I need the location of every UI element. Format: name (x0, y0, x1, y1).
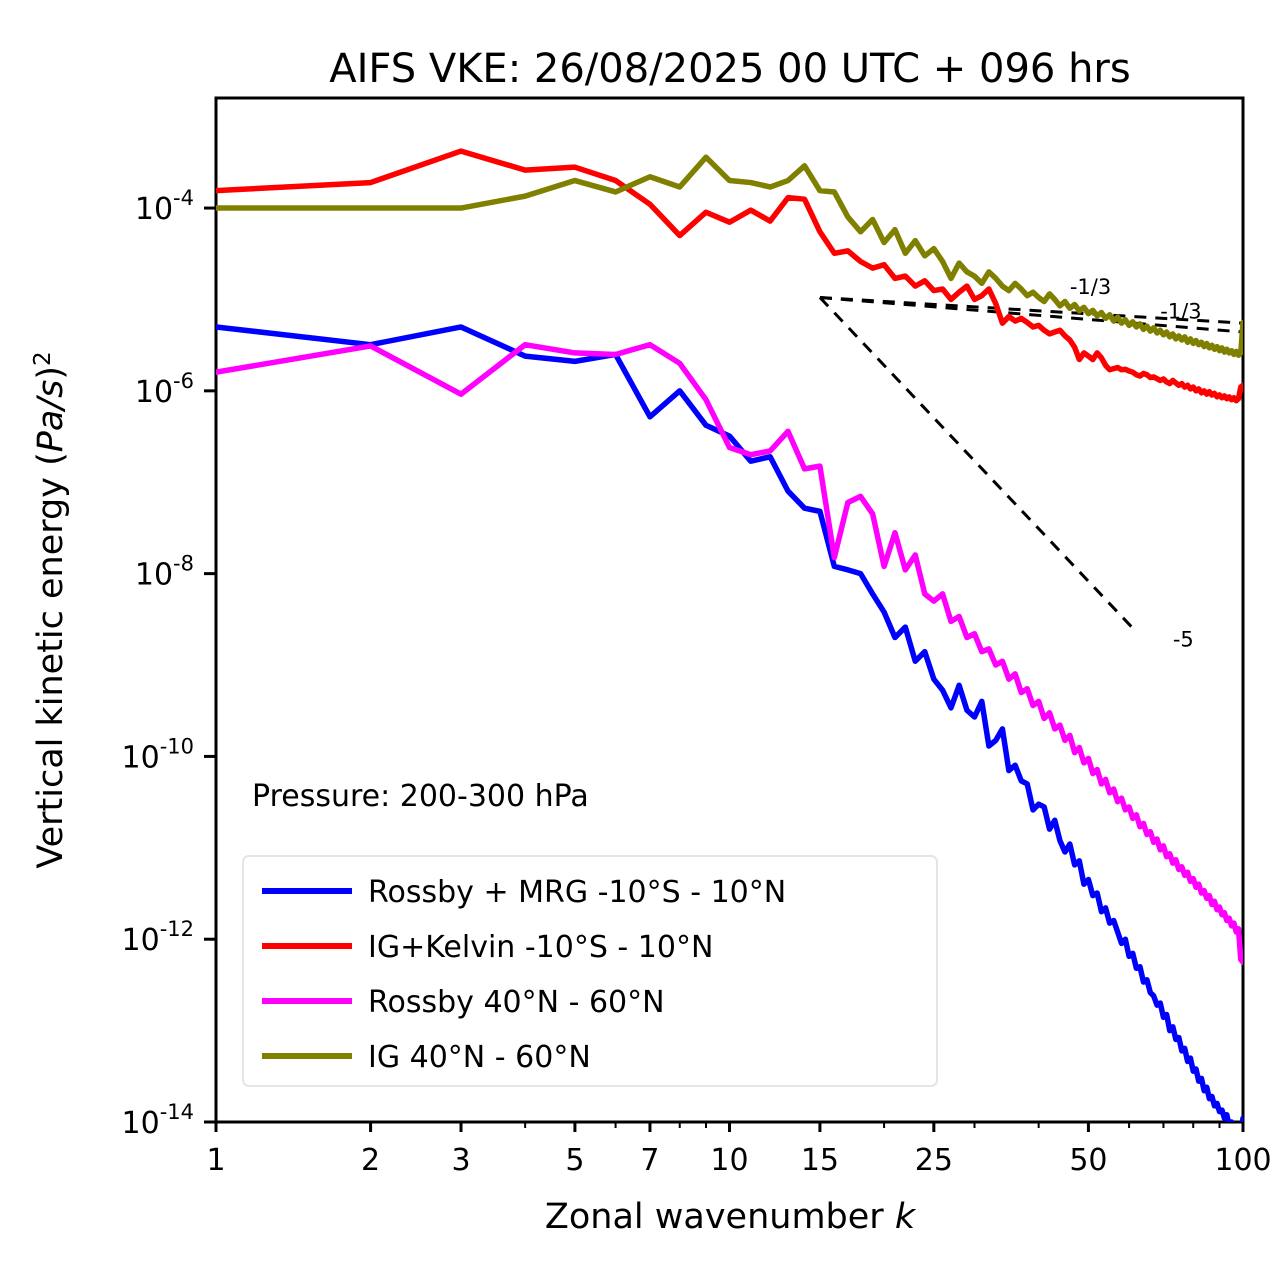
page-title: AIFS VKE: 26/08/2025 00 UTC + 096 hrs (329, 46, 1130, 92)
legend-label-3: IG 40°N - 60°N (368, 1040, 591, 1075)
y-axis-title: Vertical kinetic energy (Pa/s)2 (30, 351, 71, 868)
x-tick-label-0: 1 (206, 1143, 225, 1178)
legend-label-0: Rossby + MRG -10°S - 10°N (368, 875, 786, 910)
x-axis-title: Zonal wavenumber k (545, 1197, 917, 1237)
pressure-annotation: Pressure: 200-300 hPa (252, 779, 589, 814)
legend-label-2: Rossby 40°N - 60°N (368, 985, 665, 1020)
x-tick-label-7: 25 (915, 1143, 953, 1178)
x-tick-label-5: 10 (710, 1143, 748, 1178)
x-tick-label-3: 5 (565, 1143, 584, 1178)
x-tick-label-2: 3 (451, 1143, 470, 1178)
vke-spectrum-figure: AIFS VKE: 26/08/2025 00 UTC + 096 hrs 12… (0, 0, 1280, 1288)
x-tick-label-9: 100 (1214, 1143, 1271, 1178)
x-tick-label-1: 2 (361, 1143, 380, 1178)
slope-label-1: -1/3 (1160, 299, 1201, 323)
x-tick-label-4: 7 (640, 1143, 659, 1178)
slope-label-2: -5 (1173, 627, 1194, 651)
x-tick-label-6: 15 (801, 1143, 839, 1178)
legend-label-1: IG+Kelvin -10°S - 10°N (368, 930, 713, 965)
slope-label-0: -1/3 (1070, 275, 1111, 299)
legend: Rossby + MRG -10°S - 10°NIG+Kelvin -10°S… (243, 856, 937, 1086)
x-tick-label-8: 50 (1069, 1143, 1107, 1178)
chart-page: AIFS VKE: 26/08/2025 00 UTC + 096 hrs 12… (0, 0, 1280, 1288)
